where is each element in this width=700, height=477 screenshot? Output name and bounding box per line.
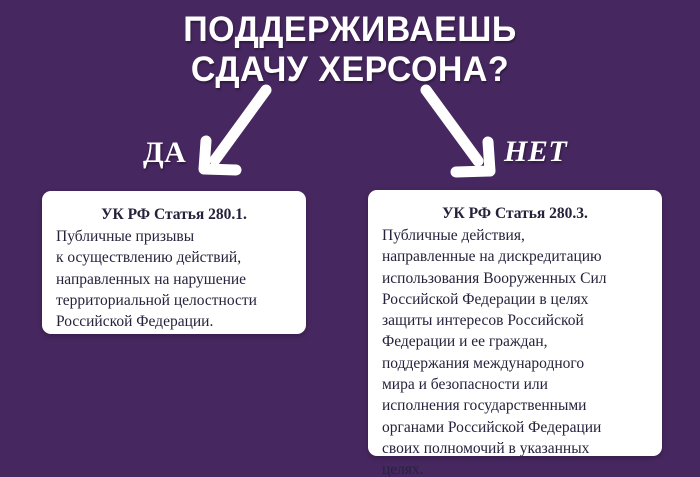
card-no-body: Публичные действия, направленные на диск… [382,225,648,477]
card-no-heading: УК РФ Статья 280.3. [382,203,648,224]
card-yes-body: Публичные призывы к осуществлению действ… [56,226,292,332]
arrow-down-right-icon [426,90,490,172]
branch-label-yes: ДА [143,136,186,170]
branch-label-no: НЕТ [504,135,567,169]
title-line-2: СДАЧУ ХЕРСОНА? [11,50,690,90]
poster-canvas: ПОДДЕРЖИВАЕШЬ СДАЧУ ХЕРСОНА? ДА НЕТ УК Р… [0,0,700,477]
arrow-down-left-icon [204,90,266,170]
poster-title: ПОДДЕРЖИВАЕШЬ СДАЧУ ХЕРСОНА? [0,10,700,90]
title-line-1: ПОДДЕРЖИВАЕШЬ [11,10,690,50]
card-no: УК РФ Статья 280.3. Публичные действия, … [368,190,662,456]
card-yes: УК РФ Статья 280.1. Публичные призывы к … [42,191,306,334]
card-yes-heading: УК РФ Статья 280.1. [56,204,292,225]
